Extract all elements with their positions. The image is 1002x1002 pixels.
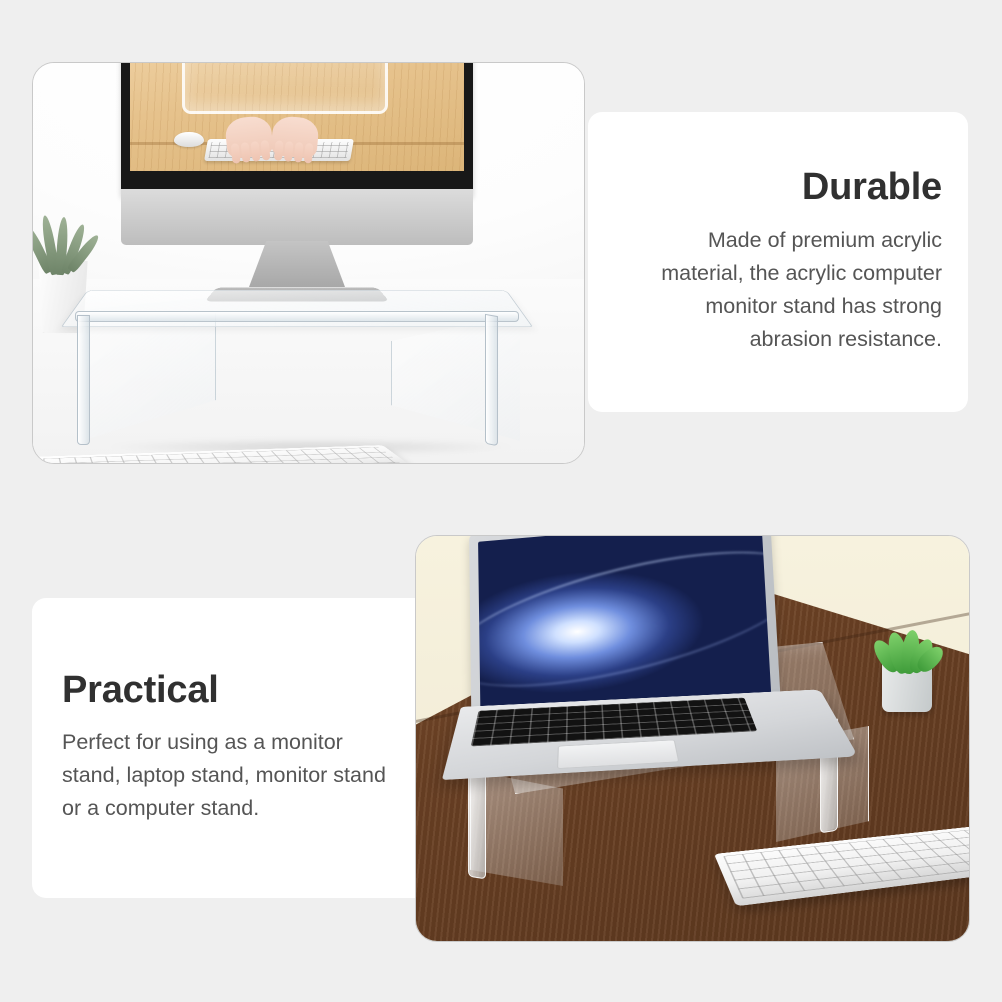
screen-mouse: [174, 132, 204, 147]
screen-hand-right: [270, 115, 319, 159]
screen-acrylic-stand: [182, 62, 388, 114]
monitor-bezel: [121, 62, 473, 197]
laptop-keyboard: [471, 698, 758, 747]
screen-wallpaper-swirl: [478, 535, 771, 715]
succulent-plant-right: [868, 602, 944, 712]
feature-card-durable: Durable Made of premium acrylic material…: [588, 112, 968, 412]
laptop-trackpad: [557, 740, 679, 769]
product-feature-board: Durable Made of premium acrylic material…: [0, 0, 1002, 1002]
photo-monitor-scene[interactable]: [32, 62, 585, 464]
stand-leg-left: [77, 315, 90, 445]
feature-heading-practical: Practical: [62, 671, 219, 711]
computer-monitor: [121, 62, 473, 279]
feature-body-practical: Perfect for using as a monitor stand, la…: [62, 726, 392, 825]
stand-front-edge: [75, 311, 519, 322]
stand-leg-right: [485, 314, 498, 446]
photo-laptop-scene[interactable]: [415, 535, 970, 942]
laptop-screen: [478, 535, 771, 720]
acrylic-monitor-stand: [61, 259, 531, 449]
feature-body-durable: Made of premium acrylic material, the ac…: [624, 224, 942, 356]
monitor-chin: [121, 189, 473, 245]
stand-side-panel-right: [391, 313, 520, 441]
screen-hand-left: [224, 115, 274, 160]
feature-heading-durable: Durable: [802, 168, 942, 208]
monitor-screen: [130, 62, 464, 171]
stand-side-panel-left: [81, 313, 216, 441]
laptop-computer: [464, 535, 824, 810]
